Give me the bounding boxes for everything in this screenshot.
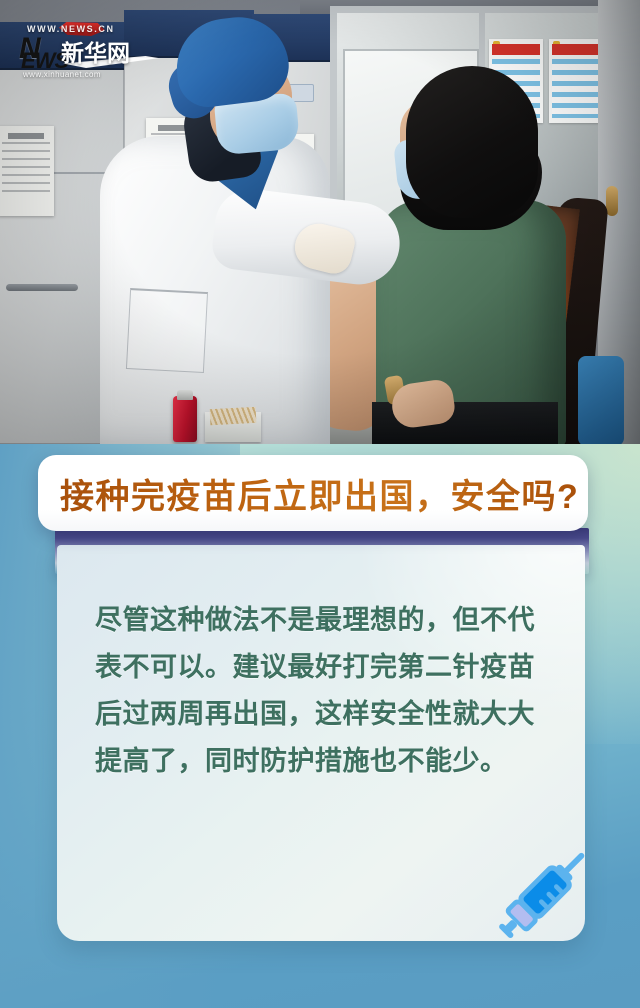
poster-rows	[552, 59, 600, 118]
blue-waste-bin	[578, 356, 624, 444]
watermark-brand-cn: 新华网	[61, 34, 130, 68]
iodine-bottle	[173, 396, 197, 442]
syringe-icon	[489, 836, 607, 954]
door-handle	[606, 186, 618, 216]
wall-poster	[549, 39, 603, 123]
answer-body: 尽管这种做法不是最理想的，但不代表不可以。建议最好打完第二针疫苗后过两周再出国，…	[95, 597, 551, 785]
poster-root: WWW.NEWS.CN N EWS 新华网 www.xinhuanet.com …	[0, 0, 640, 1008]
iodine-bottle-cap	[177, 390, 193, 400]
question-title-pill: 接种完疫苗后立即出国，安全吗?	[38, 455, 588, 531]
patient-hair	[406, 66, 538, 218]
posted-notice	[0, 126, 54, 216]
cotton-swabs	[210, 407, 257, 425]
question-title: 接种完疫苗后立即出国，安全吗?	[60, 469, 579, 518]
watermark-url-top: WWW.NEWS.CN	[27, 24, 115, 34]
watermark-url-bottom: www.xinhuanet.com	[23, 70, 101, 79]
vaccination-photo: WWW.NEWS.CN N EWS 新华网 www.xinhuanet.com	[0, 0, 640, 444]
notice-title-line	[8, 133, 44, 139]
notice-body-lines	[2, 142, 49, 198]
nurse-coat-pocket	[126, 288, 208, 373]
poster-headline	[552, 44, 600, 55]
poster-headline	[492, 44, 540, 55]
xinhua-news-watermark: WWW.NEWS.CN N EWS 新华网 www.xinhuanet.com	[19, 24, 199, 82]
fridge-handle	[6, 284, 78, 291]
